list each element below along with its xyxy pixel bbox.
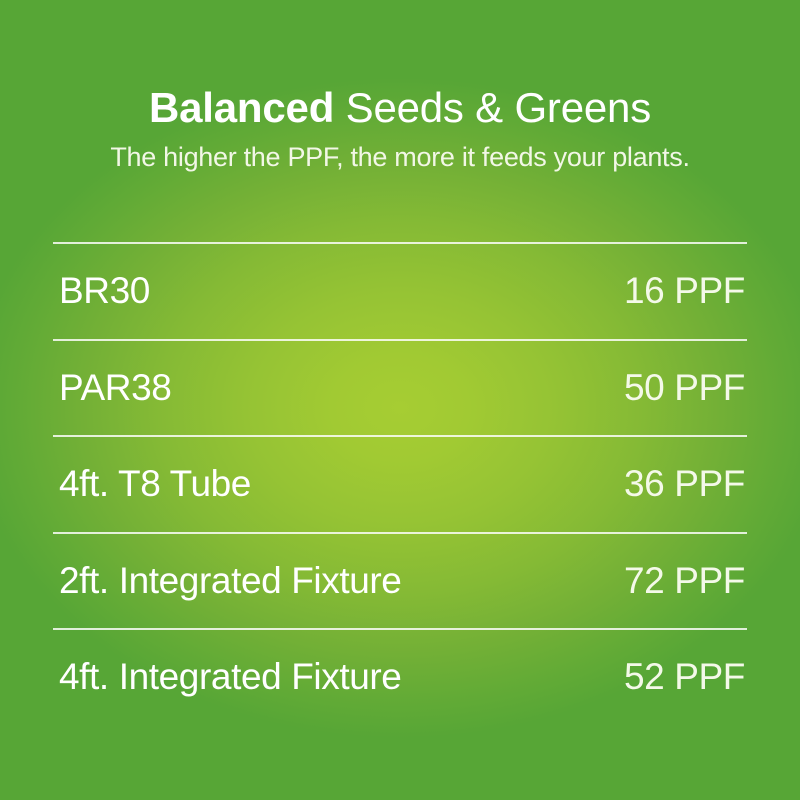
table-row: 4ft. T8 Tube 36 PPF: [53, 435, 747, 532]
row-label: 4ft. Integrated Fixture: [59, 655, 401, 699]
row-value: 16 PPF: [624, 269, 745, 313]
row-label: PAR38: [59, 366, 172, 410]
table-row: PAR38 50 PPF: [53, 339, 747, 436]
row-value: 36 PPF: [624, 462, 745, 506]
row-value: 52 PPF: [624, 655, 745, 699]
table-row: 4ft. Integrated Fixture 52 PPF: [53, 628, 747, 725]
ppf-infographic: Balanced Seeds & Greens The higher the P…: [0, 0, 800, 800]
row-value: 50 PPF: [624, 366, 745, 410]
row-value: 72 PPF: [624, 559, 745, 603]
row-label: BR30: [59, 269, 150, 313]
page-title: Balanced Seeds & Greens: [24, 82, 776, 134]
header: Balanced Seeds & Greens The higher the P…: [0, 82, 800, 174]
table-row: BR30 16 PPF: [53, 242, 747, 339]
row-label: 2ft. Integrated Fixture: [59, 559, 401, 603]
ppf-table: BR30 16 PPF PAR38 50 PPF 4ft. T8 Tube 36…: [53, 242, 747, 725]
page-subtitle: The higher the PPF, the more it feeds yo…: [24, 140, 776, 174]
page-title-rest: Seeds & Greens: [334, 84, 651, 131]
row-label: 4ft. T8 Tube: [59, 462, 251, 506]
table-row: 2ft. Integrated Fixture 72 PPF: [53, 532, 747, 629]
page-title-emphasis: Balanced: [149, 84, 334, 131]
